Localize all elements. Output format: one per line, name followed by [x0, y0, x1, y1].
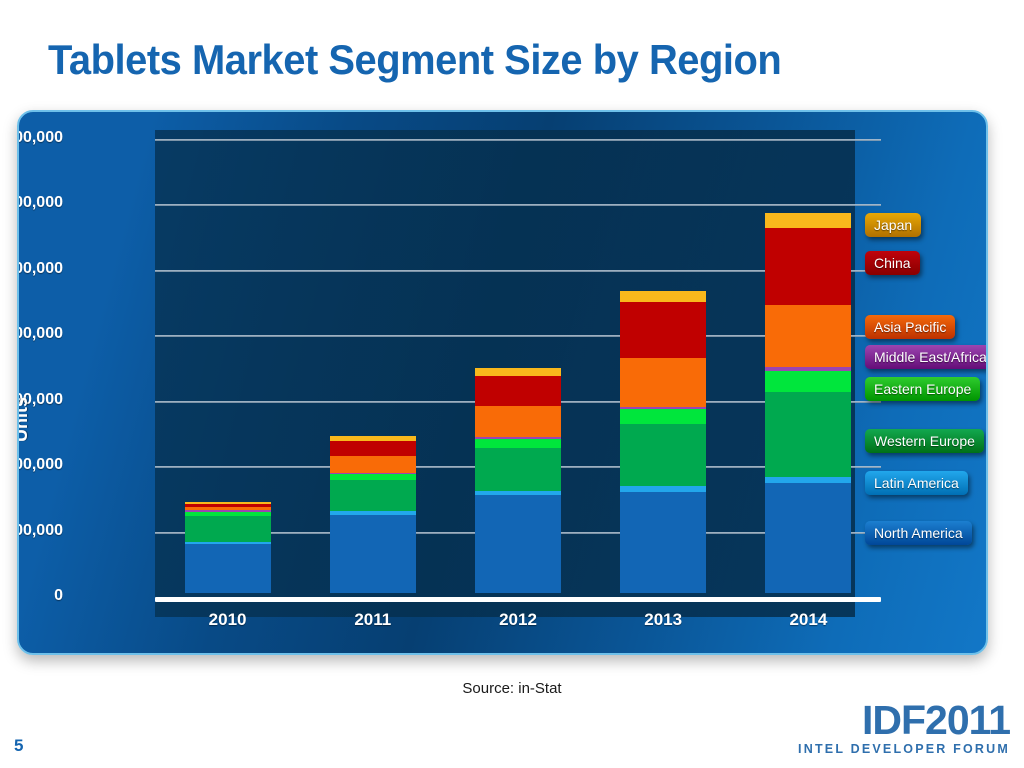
legend-item-asia-pacific: Asia Pacific [865, 315, 955, 339]
legend-item-japan: Japan [865, 213, 921, 237]
chart-panel: 70,000,00060,000,00050,000,00040,000,000… [17, 110, 988, 655]
source-note: Source: in-Stat [0, 680, 1024, 697]
legend-item-middle-east-africa: Middle East/Africa [865, 345, 988, 369]
idf-logo: IDF2011 INTEL DEVELOPER FORUM [798, 700, 1010, 756]
legend-item-western-europe: Western Europe [865, 429, 984, 453]
page-title: Tablets Market Segment Size by Region [48, 36, 781, 84]
idf-logo-main: IDF2011 [798, 700, 1010, 741]
legend-item-eastern-europe: Eastern Europe [865, 377, 980, 401]
legend-item-north-america: North America [865, 521, 972, 545]
page-number: 5 [14, 736, 23, 756]
legend-item-latin-america: Latin America [865, 471, 968, 495]
idf-logo-sub: INTEL DEVELOPER FORUM [798, 743, 1010, 756]
legend-item-china: China [865, 251, 920, 275]
chart-legend: JapanChinaAsia PacificMiddle East/Africa… [19, 112, 986, 653]
